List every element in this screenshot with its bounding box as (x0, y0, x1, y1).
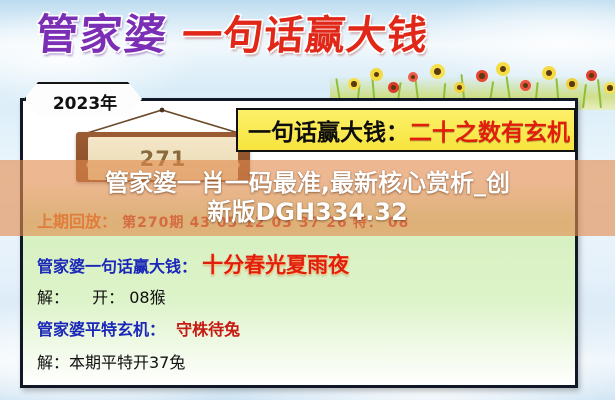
phrase-label: 管家婆一句话赢大钱： (37, 257, 197, 276)
pingte-label: 管家婆平特玄机： (37, 320, 165, 339)
phrase-answer-open-label: 开： (74, 288, 124, 307)
flower-icon (370, 68, 383, 81)
yellow-banner-label: 一句话赢大钱： (238, 113, 409, 147)
watermark-line-2: 新版DGH334.32 (207, 198, 407, 227)
phrase-answer-value: 08猴 (129, 288, 165, 307)
row-pingte-answer: 解：本期平特开37兔 (37, 349, 185, 373)
tagline-title: 一句话赢大钱 (180, 16, 429, 56)
row-phrase-answer: 解： 开： 08猴 (37, 284, 166, 308)
phrase-answer-label: 解： (37, 288, 69, 307)
flower-icon (388, 82, 399, 93)
pingte-answer-text: 解：本期平特开37兔 (37, 353, 185, 372)
title-row: 管家婆 一句话赢大钱 (36, 14, 428, 56)
flower-icon (408, 72, 418, 82)
yellow-banner: 一句话赢大钱： 二十之数有玄机 (236, 108, 576, 152)
flower-icon (348, 78, 360, 90)
brand-title: 管家婆 (34, 14, 170, 56)
flower-icon (586, 70, 597, 81)
pingte-value: 守株待兔 (170, 320, 240, 339)
flower-icon (430, 64, 445, 79)
watermark-text: 管家婆一肖一码最准,最新核心赏析_创 新版DGH334.32 (0, 158, 615, 238)
flower-icon (520, 80, 531, 91)
row-pingte: 管家婆平特玄机： 守株待兔 (37, 316, 240, 340)
flower-icon (476, 70, 488, 82)
flower-icon (566, 78, 578, 90)
page-root: 管家婆 一句话赢大钱 上期回放： (0, 0, 615, 400)
flower-icon (454, 82, 465, 93)
watermark-line-1: 管家婆一肖一码最准,最新核心赏析_创 (105, 169, 510, 198)
flower-icon (604, 82, 615, 94)
flower-icon (542, 66, 556, 80)
row-phrase: 管家婆一句话赢大钱： 十分春光夏雨夜 (37, 249, 349, 279)
rope-icon (72, 108, 254, 134)
yellow-banner-value: 二十之数有玄机 (409, 113, 570, 147)
phrase-value: 十分春光夏雨夜 (202, 253, 349, 277)
flower-icon (496, 62, 510, 76)
